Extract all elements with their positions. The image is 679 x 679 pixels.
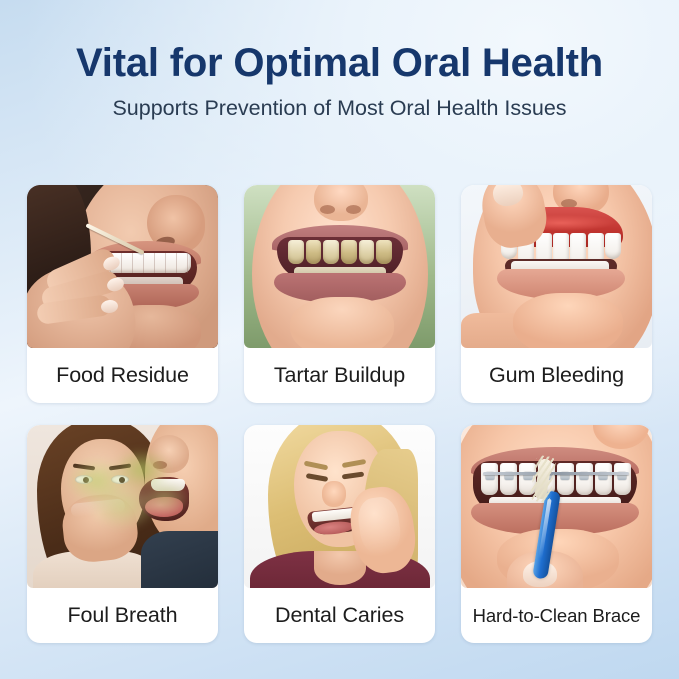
issue-card-caption: Food Residue bbox=[27, 348, 218, 403]
interdental-brush-braces-photo bbox=[461, 425, 652, 588]
interdental-brush-head bbox=[534, 458, 552, 499]
page-title: Vital for Optimal Oral Health bbox=[0, 41, 679, 86]
issue-card-hard-to-clean-brace[interactable]: Hard-to-Clean Brace bbox=[461, 425, 652, 643]
woman-toothache-holding-cheek-photo bbox=[244, 425, 435, 588]
issue-card-caption: Gum Bleeding bbox=[461, 348, 652, 403]
issue-card-dental-caries[interactable]: Dental Caries bbox=[244, 425, 435, 643]
issue-card-caption: Foul Breath bbox=[27, 588, 218, 643]
child-smile-tartar-teeth-photo bbox=[244, 185, 435, 348]
bad-breath-cloud bbox=[49, 437, 209, 547]
bad-breath-couple-photo bbox=[27, 425, 218, 588]
woman-using-toothpick-photo bbox=[27, 185, 218, 348]
issue-card-caption: Tartar Buildup bbox=[244, 348, 435, 403]
issue-card-caption: Dental Caries bbox=[244, 588, 435, 643]
inflamed-red-gums-photo bbox=[461, 185, 652, 348]
page-subtitle: Supports Prevention of Most Oral Health … bbox=[0, 95, 679, 121]
header: Vital for Optimal Oral Health Supports P… bbox=[0, 0, 679, 121]
issue-card-caption: Hard-to-Clean Brace bbox=[461, 588, 652, 643]
issue-card-grid: Food Residue Tartar Buildup bbox=[27, 185, 652, 643]
infographic-poster: Vital for Optimal Oral Health Supports P… bbox=[0, 0, 679, 679]
issue-card-tartar-buildup[interactable]: Tartar Buildup bbox=[244, 185, 435, 403]
issue-card-foul-breath[interactable]: Foul Breath bbox=[27, 425, 218, 643]
issue-card-gum-bleeding[interactable]: Gum Bleeding bbox=[461, 185, 652, 403]
issue-card-food-residue[interactable]: Food Residue bbox=[27, 185, 218, 403]
